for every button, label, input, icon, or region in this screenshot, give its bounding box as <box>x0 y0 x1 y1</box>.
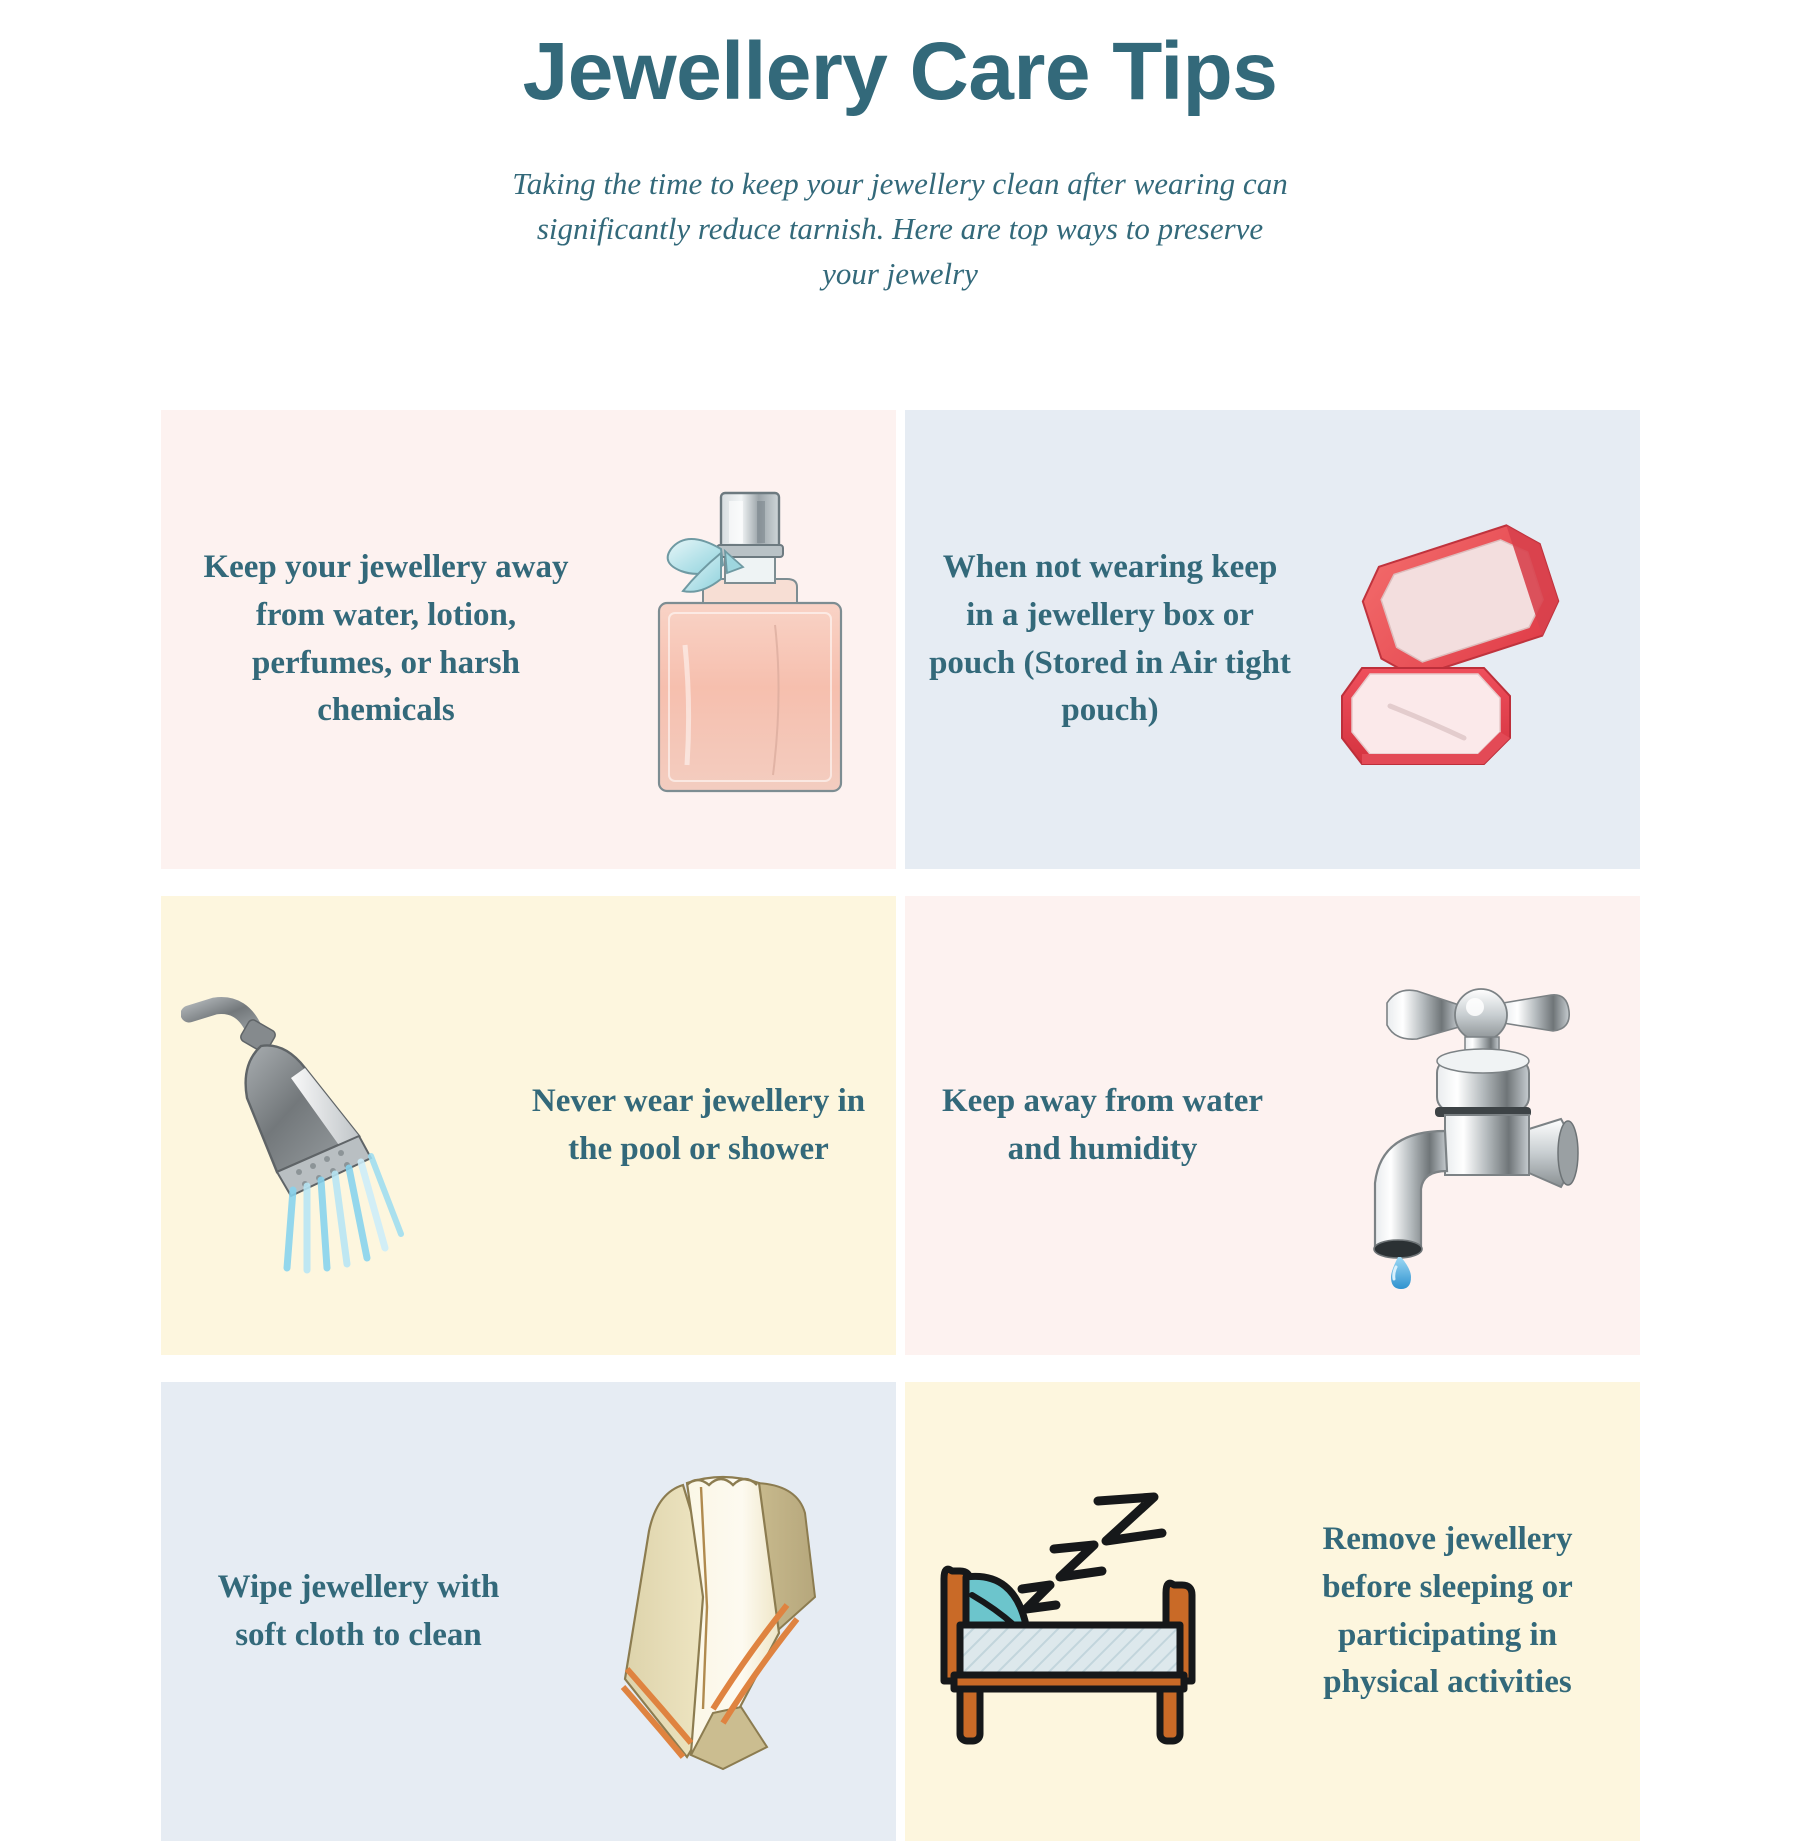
page-subtitle: Taking the time to keep your jewellery c… <box>505 161 1295 297</box>
tip-text-container: Keep away from water and humidity <box>905 1078 1300 1173</box>
tip-text-container: When not wearing keep in a jewellery box… <box>905 544 1309 734</box>
shower-head-icon <box>161 976 501 1276</box>
tip-text-container: Keep your jewellery away from water, lot… <box>161 544 595 734</box>
tip-card-shower: Never wear jewellery in the pool or show… <box>161 896 896 1355</box>
tip-text: Wipe jewellery with soft cloth to clean <box>189 1564 529 1659</box>
tip-card-cloth: Wipe jewellery with soft cloth to clean <box>161 1382 896 1841</box>
faucet-icon <box>1300 961 1640 1291</box>
header: Jewellery Care Tips Taking the time to k… <box>0 0 1800 296</box>
tip-text-container: Never wear jewellery in the pool or show… <box>501 1078 896 1173</box>
polishing-cloth-illustration <box>591 1447 861 1777</box>
polishing-cloth-icon <box>556 1447 896 1777</box>
bed-sleeping-illustration <box>930 1467 1230 1757</box>
tip-card-bed: Remove jewellery before sleeping or part… <box>905 1382 1640 1841</box>
bed-sleeping-icon <box>905 1467 1255 1757</box>
tips-grid: Keep your jewellery away from water, lot… <box>161 410 1640 1841</box>
page-title: Jewellery Care Tips <box>0 28 1800 117</box>
jewellery-box-icon <box>1309 500 1640 780</box>
infographic-page: Jewellery Care Tips Taking the time to k… <box>0 0 1800 1800</box>
tip-text: Never wear jewellery in the pool or show… <box>519 1078 879 1173</box>
tip-text: Keep away from water and humidity <box>938 1078 1268 1173</box>
perfume-bottle-icon <box>595 475 896 805</box>
tip-text: Remove jewellery before sleeping or part… <box>1283 1516 1613 1706</box>
tip-card-faucet: Keep away from water and humidity <box>905 896 1640 1355</box>
tip-card-jewellery-box: When not wearing keep in a jewellery box… <box>905 410 1640 869</box>
tip-text: Keep your jewellery away from water, lot… <box>191 544 581 734</box>
perfume-bottle-illustration <box>625 475 875 805</box>
faucet-illustration <box>1325 961 1615 1291</box>
tip-text-container: Remove jewellery before sleeping or part… <box>1255 1516 1640 1706</box>
shower-head-illustration <box>181 976 481 1276</box>
tip-text: When not wearing keep in a jewellery box… <box>925 544 1295 734</box>
tip-text-container: Wipe jewellery with soft cloth to clean <box>161 1564 556 1659</box>
jewellery-box-illustration <box>1334 500 1614 780</box>
tip-card-perfume: Keep your jewellery away from water, lot… <box>161 410 896 869</box>
